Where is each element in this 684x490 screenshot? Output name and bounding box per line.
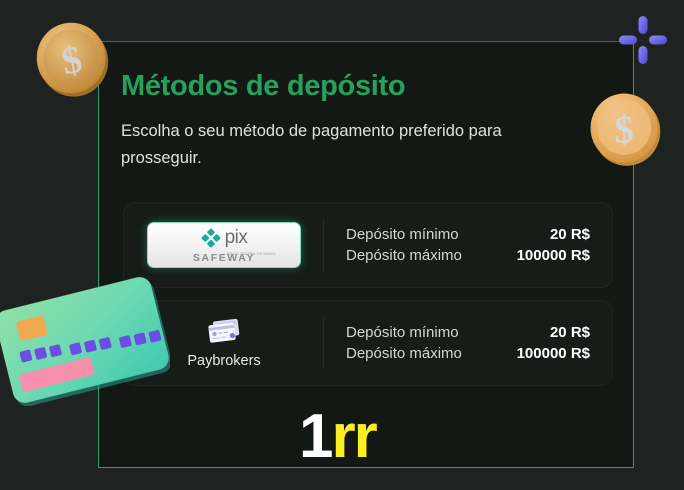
max-deposit-label: Depósito máximo [346, 247, 462, 264]
page-title: Métodos de depósito [121, 70, 405, 103]
pix-diamond-icon [201, 228, 221, 248]
min-deposit-label: Depósito mínimo [346, 226, 459, 243]
pix-logo-top: pix BANCO CENTRAL DO BRASIL [201, 227, 248, 249]
max-deposit-value: 100000 R$ [517, 247, 590, 264]
limit-row-max: Depósito máximo 100000 R$ [346, 247, 590, 264]
pix-wordmark: pix BANCO CENTRAL DO BRASIL [225, 228, 248, 247]
payment-methods-list: pix BANCO CENTRAL DO BRASIL SAFEWAY Depó… [123, 202, 613, 398]
overlay-watermark-text: 1rr [299, 406, 376, 468]
overlay-text-white: 1 [299, 402, 331, 471]
gold-coin-icon: $ [583, 86, 667, 170]
credit-cards-icon [204, 317, 244, 347]
svg-text:$: $ [615, 109, 634, 151]
min-deposit-value: 20 R$ [550, 226, 590, 243]
page-subtitle: Escolha o seu método de pagamento prefer… [121, 118, 571, 172]
max-deposit-value: 100000 R$ [517, 345, 590, 362]
min-deposit-value: 20 R$ [550, 324, 590, 341]
overlay-text-yellow: rr [331, 402, 375, 471]
max-deposit-label: Depósito máximo [346, 345, 462, 362]
sparkle-icon [617, 14, 669, 66]
limit-row-max: Depósito máximo 100000 R$ [346, 345, 590, 362]
pix-logo-plate: pix BANCO CENTRAL DO BRASIL SAFEWAY [147, 222, 301, 268]
payment-method-row[interactable]: pix BANCO CENTRAL DO BRASIL SAFEWAY Depó… [123, 202, 613, 288]
min-deposit-label: Depósito mínimo [346, 324, 459, 341]
screen: Métodos de depósito Escolha o seu método… [0, 0, 684, 490]
limit-row-min: Depósito mínimo 20 R$ [346, 226, 590, 243]
gold-coin-icon: $ [30, 16, 114, 100]
method-name-label: Paybrokers [187, 353, 260, 369]
method-limits: Depósito mínimo 20 R$ Depósito máximo 10… [324, 226, 612, 264]
method-limits: Depósito mínimo 20 R$ Depósito máximo 10… [324, 324, 612, 362]
limit-row-min: Depósito mínimo 20 R$ [346, 324, 590, 341]
payment-method-row[interactable]: Paybrokers Depósito mínimo 20 R$ Depósit… [123, 300, 613, 386]
credit-card-illustration [0, 272, 170, 406]
pix-tagline: BANCO CENTRAL DO BRASIL [227, 245, 276, 264]
